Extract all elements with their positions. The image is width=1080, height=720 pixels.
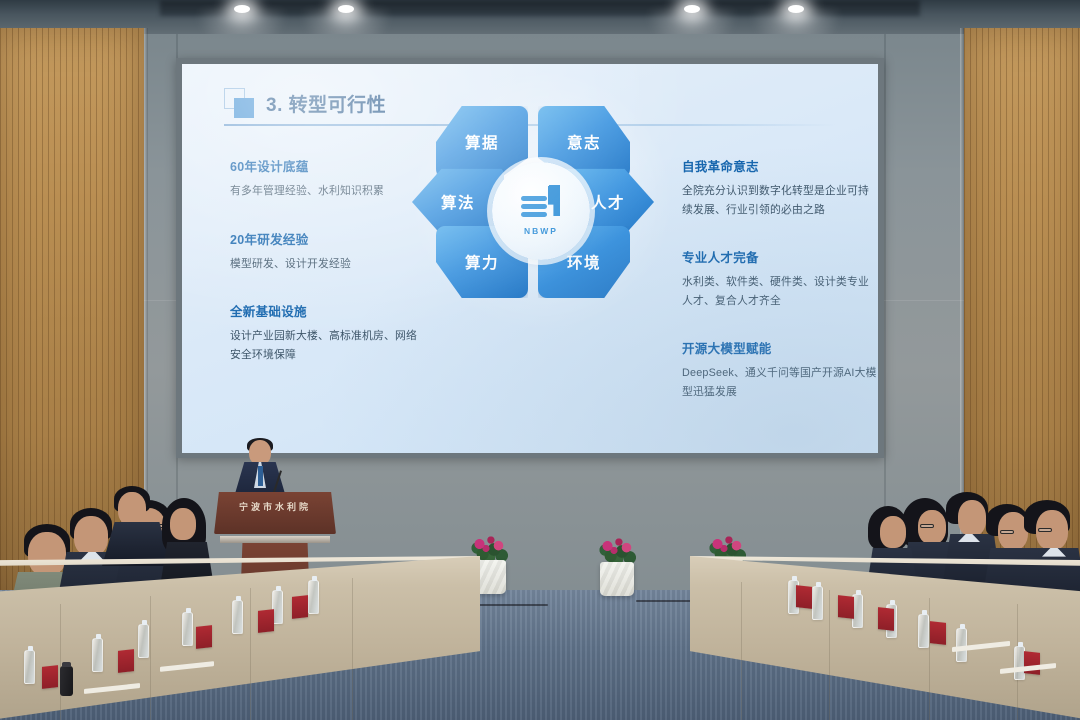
feature-body: 设计产业园新大楼、高标准机房、网络安全环境保障 bbox=[230, 327, 420, 364]
water-bottle bbox=[182, 612, 193, 646]
water-bottle bbox=[138, 624, 149, 658]
presenter-tie bbox=[258, 466, 263, 486]
feature-body: 有多年管理经验、水利知识积累 bbox=[230, 182, 420, 201]
water-bottle bbox=[232, 600, 243, 634]
name-card bbox=[878, 607, 894, 631]
feature-title: 专业人才完备 bbox=[682, 247, 878, 266]
feature-block: 自我革命意志 全院充分认识到数字化转型是企业可持续发展、行业引领的必由之路 bbox=[682, 156, 878, 219]
name-card bbox=[258, 609, 274, 633]
name-card bbox=[838, 595, 854, 619]
water-bottle bbox=[92, 638, 103, 672]
feature-block: 开源大模型赋能 DeepSeek、通义千问等国产开源AI大模型迅猛发展 bbox=[682, 338, 878, 401]
feature-title: 全新基础设施 bbox=[230, 301, 420, 320]
name-card bbox=[930, 621, 946, 645]
right-text-column: 自我革命意志 全院充分认识到数字化转型是企业可持续发展、行业引领的必由之路 专业… bbox=[682, 156, 878, 429]
water-bottle bbox=[918, 614, 929, 648]
lectern-trim bbox=[220, 536, 330, 543]
feature-block: 60年设计底蕴 有多年管理经验、水利知识积累 bbox=[230, 156, 420, 201]
square-bullet-icon bbox=[224, 88, 254, 118]
flower-planter bbox=[596, 542, 638, 596]
conference-room-scene: 3. 转型可行性 60年设计底蕴 有多年管理经验、水利知识积累 20年研发经验 … bbox=[0, 0, 1080, 720]
name-card bbox=[292, 595, 308, 619]
feature-block: 全新基础设施 设计产业园新大楼、高标准机房、网络安全环境保障 bbox=[230, 301, 420, 364]
venue-sign: 宁波市水利院 bbox=[214, 500, 336, 513]
feature-title: 60年设计底蕴 bbox=[230, 156, 420, 175]
feature-title: 自我革命意志 bbox=[682, 156, 878, 175]
logo-wordmark: NBWP bbox=[524, 226, 558, 236]
feature-block: 专业人才完备 水利类、软件类、硬件类、设计类专业人才、复合人才齐全 bbox=[682, 247, 878, 310]
feature-body: 模型研发、设计开发经验 bbox=[230, 255, 420, 274]
name-card bbox=[42, 665, 58, 689]
feature-block: 20年研发经验 模型研发、设计开发经验 bbox=[230, 229, 420, 274]
name-card bbox=[796, 585, 812, 609]
feature-body: 水利类、软件类、硬件类、设计类专业人才、复合人才齐全 bbox=[682, 273, 878, 310]
name-card bbox=[118, 649, 134, 673]
feature-body: 全院充分认识到数字化转型是企业可持续发展、行业引领的必由之路 bbox=[682, 182, 878, 219]
feature-title: 开源大模型赋能 bbox=[682, 338, 878, 357]
petal-top-left: 算据 bbox=[436, 106, 528, 178]
water-bottle bbox=[308, 580, 319, 614]
lectern-top bbox=[214, 492, 336, 534]
slide-header: 3. 转型可行性 bbox=[224, 88, 386, 118]
feature-body: DeepSeek、通义千问等国产开源AI大模型迅猛发展 bbox=[682, 364, 878, 401]
feature-title: 20年研发经验 bbox=[230, 229, 420, 248]
thermos bbox=[60, 666, 73, 696]
water-bottle bbox=[812, 586, 823, 620]
hexagon-petal-diagram: 算据 意志 算法 人才 算力 环境 NBWP bbox=[418, 84, 664, 314]
presenter-head bbox=[249, 440, 271, 465]
company-logo-icon bbox=[520, 186, 562, 224]
name-card bbox=[1024, 651, 1040, 675]
diagram-hub: NBWP bbox=[492, 162, 590, 260]
water-bottle bbox=[24, 650, 35, 684]
name-card bbox=[196, 625, 212, 649]
left-text-column: 60年设计底蕴 有多年管理经验、水利知识积累 20年研发经验 模型研发、设计开发… bbox=[230, 156, 420, 392]
projection-screen: 3. 转型可行性 60年设计底蕴 有多年管理经验、水利知识积累 20年研发经验 … bbox=[182, 64, 878, 453]
presentation-slide: 3. 转型可行性 60年设计底蕴 有多年管理经验、水利知识积累 20年研发经验 … bbox=[182, 64, 878, 453]
slide-title: 3. 转型可行性 bbox=[266, 90, 386, 117]
